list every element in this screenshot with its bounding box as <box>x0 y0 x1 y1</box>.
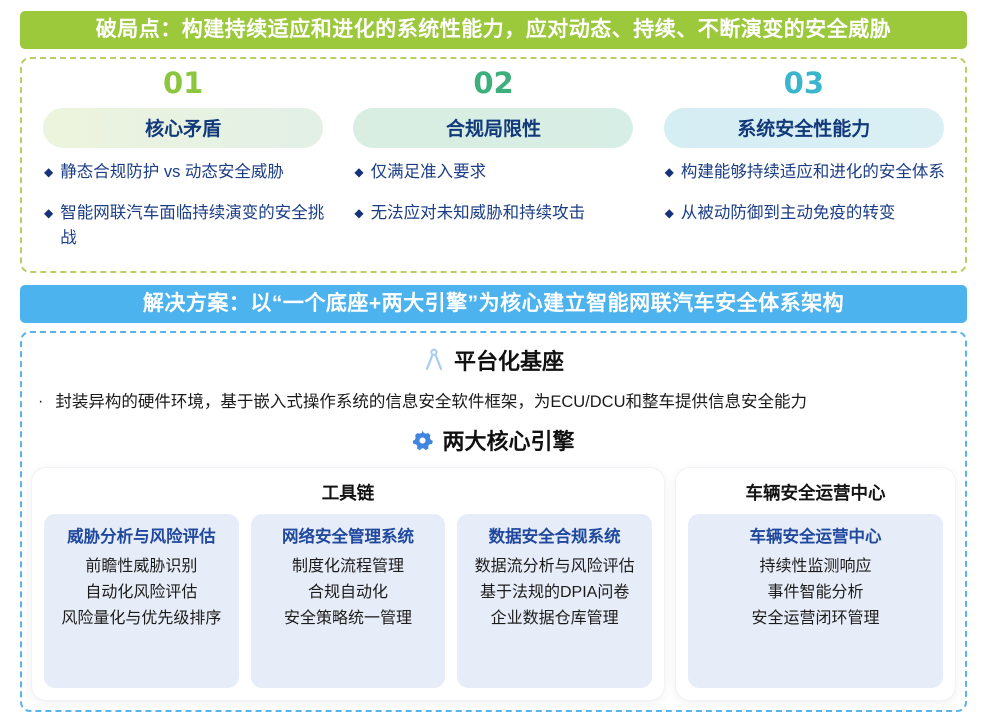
bullet-text: 构建能够持续适应和进化的安全体系 <box>681 160 947 185</box>
solution-banner: 解决方案：以“一个底座+两大引擎”为核心建立智能网联汽车安全体系架构 <box>20 285 967 323</box>
bullet-item: ◆ 从被动防御到主动免疫的转变 <box>665 201 947 226</box>
platform-title: 平台化基座 <box>454 344 564 376</box>
column-number: 01 <box>163 69 203 98</box>
column-number: 03 <box>784 69 824 98</box>
card-item: 风险量化与优先级排序 <box>50 606 233 632</box>
group-toolchain: 工具链 威胁分析与风险评估 前瞻性威胁识别 自动化风险评估 风险量化与优先级排序… <box>32 468 664 700</box>
bullet-text: 无法应对未知威胁和持续攻击 <box>371 201 637 226</box>
card-item: 企业数据仓库管理 <box>463 606 646 632</box>
column-pill-label: 合规局限性 <box>353 108 633 148</box>
column-pill-label: 系统安全性能力 <box>664 108 944 148</box>
platform-description-row: · 封装异构的硬件环境，基于嵌入式操作系统的信息安全软件框架，为ECU/DCU和… <box>32 378 955 416</box>
gear-icon <box>412 430 433 451</box>
bullet-text: 静态合规防护 vs 动态安全威胁 <box>60 160 326 185</box>
diamond-icon: ◆ <box>665 201 674 226</box>
card-item: 基于法规的DPIA问卷 <box>463 580 646 606</box>
bullet-text: 智能网联汽车面临持续演变的安全挑战 <box>60 201 326 251</box>
column-pill-label: 核心矛盾 <box>43 108 323 148</box>
problem-column-02: 02 合规局限性 ◆ 仅满足准入要求 ◆ 无法应对未知威胁和持续攻击 <box>338 69 648 259</box>
card-data-security-compliance[interactable]: 数据安全合规系统 数据流分析与风险评估 基于法规的DPIA问卷 企业数据仓库管理 <box>457 514 652 688</box>
solution-box: 平台化基座 · 封装异构的硬件环境，基于嵌入式操作系统的信息安全软件框架，为EC… <box>20 331 967 712</box>
bullet-item: ◆ 构建能够持续适应和进化的安全体系 <box>665 160 947 185</box>
group-title: 工具链 <box>44 480 652 505</box>
group-cards: 车辆安全运营中心 持续性监测响应 事件智能分析 安全运营闭环管理 <box>688 514 943 688</box>
column-bullets: ◆ 构建能够持续适应和进化的安全体系 ◆ 从被动防御到主动免疫的转变 <box>661 160 947 242</box>
engines-row: 工具链 威胁分析与风险评估 前瞻性威胁识别 自动化风险评估 风险量化与优先级排序… <box>32 468 955 700</box>
diamond-icon: ◆ <box>354 201 363 226</box>
card-title: 车辆安全运营中心 <box>694 523 937 547</box>
column-bullets: ◆ 仅满足准入要求 ◆ 无法应对未知威胁和持续攻击 <box>350 160 636 242</box>
platform-heading: 平台化基座 <box>32 344 955 376</box>
card-title: 数据安全合规系统 <box>463 523 646 547</box>
bullet-text: 仅满足准入要求 <box>371 160 637 185</box>
card-title: 威胁分析与风险评估 <box>50 523 233 547</box>
card-title: 网络安全管理系统 <box>257 523 440 547</box>
diamond-icon: ◆ <box>44 160 53 185</box>
bullet-item: ◆ 仅满足准入要求 <box>354 160 636 185</box>
diamond-icon: ◆ <box>354 160 363 185</box>
card-vsoc[interactable]: 车辆安全运营中心 持续性监测响应 事件智能分析 安全运营闭环管理 <box>688 514 943 688</box>
group-cards: 威胁分析与风险评估 前瞻性威胁识别 自动化风险评估 风险量化与优先级排序 网络安… <box>44 514 652 688</box>
diamond-icon: ◆ <box>665 160 674 185</box>
card-item: 安全策略统一管理 <box>257 606 440 632</box>
column-bullets: ◆ 静态合规防护 vs 动态安全威胁 ◆ 智能网联汽车面临持续演变的安全挑战 <box>40 160 326 267</box>
bullet-item: ◆ 无法应对未知威胁和持续攻击 <box>354 201 636 226</box>
bullet-text: 从被动防御到主动免疫的转变 <box>681 201 947 226</box>
group-title: 车辆安全运营中心 <box>688 480 943 505</box>
card-item: 事件智能分析 <box>694 580 937 606</box>
card-item: 自动化风险评估 <box>50 580 233 606</box>
problem-column-03: 03 系统安全性能力 ◆ 构建能够持续适应和进化的安全体系 ◆ 从被动防御到主动… <box>649 69 959 259</box>
engines-heading: 两大核心引擎 <box>32 424 955 456</box>
bullet-item: ◆ 智能网联汽车面临持续演变的安全挑战 <box>44 201 326 251</box>
card-item: 制度化流程管理 <box>257 554 440 580</box>
card-cybersecurity-management[interactable]: 网络安全管理系统 制度化流程管理 合规自动化 安全策略统一管理 <box>251 514 446 688</box>
slide-root: 破局点：构建持续适应和进化的系统性能力，应对动态、持续、不断演变的安全威胁 01… <box>0 0 987 728</box>
card-item: 前瞻性威胁识别 <box>50 554 233 580</box>
platform-description: 封装异构的硬件环境，基于嵌入式操作系统的信息安全软件框架，为ECU/DCU和整车… <box>55 390 807 414</box>
group-vsoc: 车辆安全运营中心 车辆安全运营中心 持续性监测响应 事件智能分析 安全运营闭环管… <box>676 468 955 700</box>
card-item: 合规自动化 <box>257 580 440 606</box>
card-item: 安全运营闭环管理 <box>694 606 937 632</box>
card-item: 数据流分析与风险评估 <box>463 554 646 580</box>
bullet-item: ◆ 静态合规防护 vs 动态安全威胁 <box>44 160 326 185</box>
card-threat-analysis[interactable]: 威胁分析与风险评估 前瞻性威胁识别 自动化风险评估 风险量化与优先级排序 <box>44 514 239 688</box>
problem-column-01: 01 核心矛盾 ◆ 静态合规防护 vs 动态安全威胁 ◆ 智能网联汽车面临持续演… <box>28 69 338 259</box>
column-number: 02 <box>473 69 513 98</box>
compass-icon <box>423 348 445 372</box>
engines-title: 两大核心引擎 <box>442 424 574 456</box>
diamond-icon: ◆ <box>44 201 53 226</box>
card-item: 持续性监测响应 <box>694 554 937 580</box>
problem-banner: 破局点：构建持续适应和进化的系统性能力，应对动态、持续、不断演变的安全威胁 <box>20 11 967 49</box>
bullet-dot-icon: · <box>38 390 43 414</box>
problem-box: 01 核心矛盾 ◆ 静态合规防护 vs 动态安全威胁 ◆ 智能网联汽车面临持续演… <box>20 57 967 273</box>
